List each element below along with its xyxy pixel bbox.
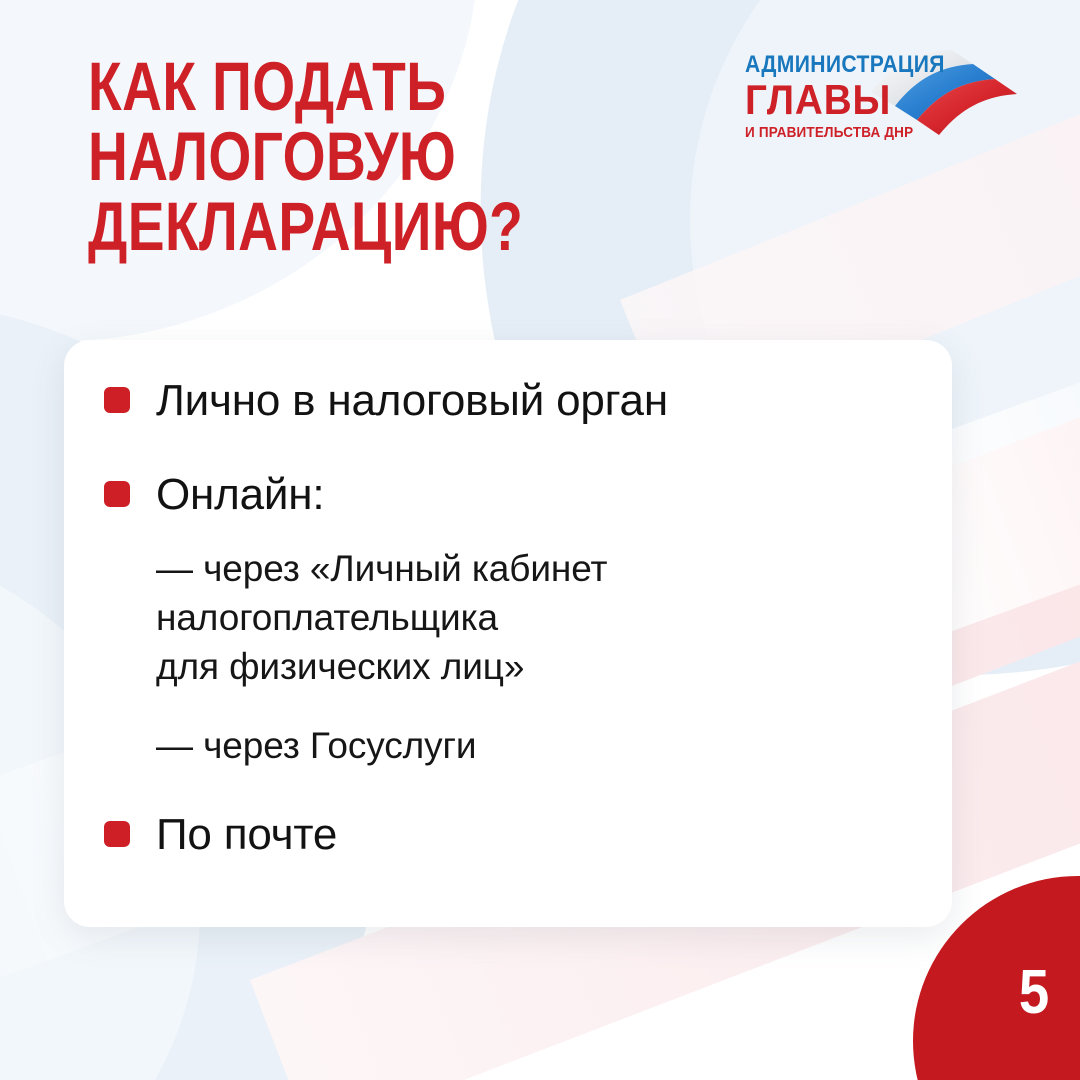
page-title: КАК ПОДАТЬ НАЛОГОВУЮ ДЕКЛАРАЦИЮ?: [88, 52, 568, 262]
red-square-bullet-icon: [104, 387, 130, 413]
list-item: По почте: [104, 808, 916, 862]
list-item: Лично в налоговый орган: [104, 374, 916, 428]
list-item-label: Онлайн:: [156, 468, 324, 522]
list-item-label: Лично в налоговый орган: [156, 374, 668, 428]
red-square-bullet-icon: [104, 821, 130, 847]
content-card: Лично в налоговый орган Онлайн: — через …: [64, 340, 952, 927]
sub-list-item: — через Госуслуги: [156, 721, 916, 770]
sub-list: — через «Личный кабинет налогоплательщик…: [156, 544, 916, 770]
list-item-label: По почте: [156, 808, 337, 862]
infographic-poster: КАК ПОДАТЬ НАЛОГОВУЮ ДЕКЛАРАЦИЮ?: [0, 0, 1080, 1080]
logo-line-administration: АДМИНИСТРАЦИЯ: [745, 52, 912, 77]
logo-line-head: ГЛАВЫ: [745, 79, 920, 121]
content-card-body: Лично в налоговый орган Онлайн: — через …: [104, 374, 916, 862]
red-square-bullet-icon: [104, 481, 130, 507]
sub-list-item: — через «Личный кабинет налогоплательщик…: [156, 544, 916, 691]
list-item: Онлайн:: [104, 468, 916, 522]
logo-text-block: АДМИНИСТРАЦИЯ ГЛАВЫ И ПРАВИТЕЛЬСТВА ДНР: [745, 52, 935, 141]
page-number-value: 5: [1012, 962, 1056, 1024]
logo-line-government: И ПРАВИТЕЛЬСТВА ДНР: [745, 124, 916, 141]
organization-logo: АДМИНИСТРАЦИЯ ГЛАВЫ И ПРАВИТЕЛЬСТВА ДНР: [745, 52, 1015, 162]
